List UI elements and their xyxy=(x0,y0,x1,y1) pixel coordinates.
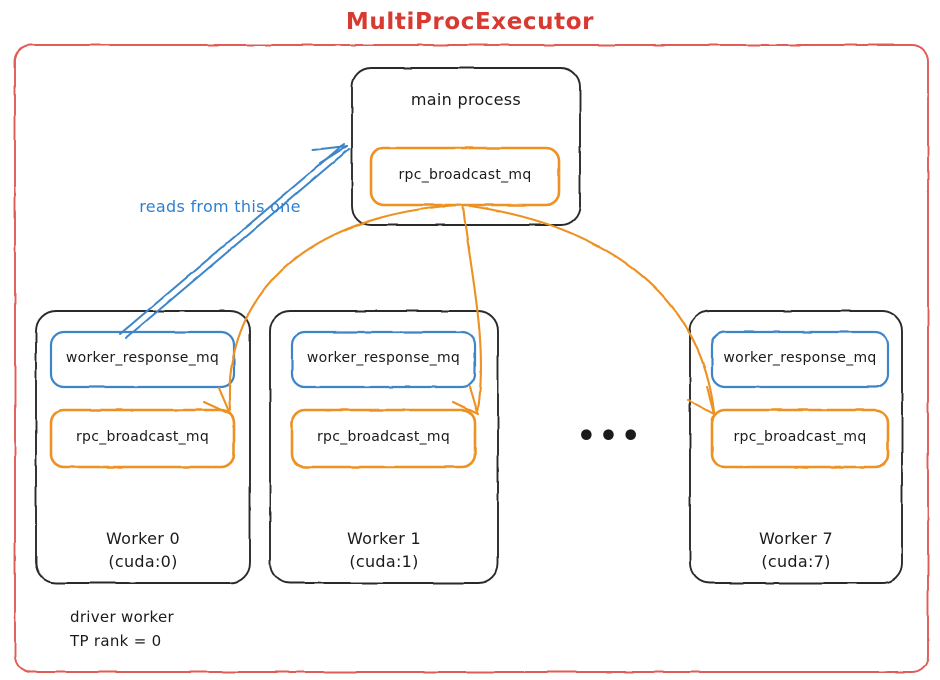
worker-7-name: Worker 7 xyxy=(690,529,902,549)
reads-from-annotation: reads from this one xyxy=(105,197,335,217)
worker-0-device: (cuda:0) xyxy=(36,552,250,572)
worker-1-name: Worker 1 xyxy=(270,529,498,549)
worker-0-response-queue-label: worker_response_mq xyxy=(51,350,234,368)
worker-7-device: (cuda:7) xyxy=(690,552,902,572)
broadcast-arrow-worker-7 xyxy=(470,206,714,412)
main-process-broadcast-queue-label: rpc_broadcast_mq xyxy=(371,167,559,185)
driver-worker-note-line1: driver worker xyxy=(70,608,370,627)
worker-1-response-queue-label: worker_response_mq xyxy=(292,350,475,368)
worker-1-broadcast-queue-label: rpc_broadcast_mq xyxy=(292,429,475,447)
worker-7-response-queue-label: worker_response_mq xyxy=(712,350,888,368)
diagram-canvas: MultiProcExecutor main process rpc_broad… xyxy=(0,0,940,680)
worker-7-broadcast-queue-label: rpc_broadcast_mq xyxy=(712,429,888,447)
worker-0-name: Worker 0 xyxy=(36,529,250,549)
reads-from-arrow-line-a xyxy=(120,144,344,334)
reads-from-arrow xyxy=(120,144,349,338)
workers-ellipsis: ••• xyxy=(530,418,690,456)
worker-1-device: (cuda:1) xyxy=(270,552,498,572)
worker-0-broadcast-queue-label: rpc_broadcast_mq xyxy=(51,429,234,447)
driver-worker-note-line2: TP rank = 0 xyxy=(70,632,370,651)
main-process-title: main process xyxy=(352,90,580,110)
page-title: MultiProcExecutor xyxy=(0,8,940,37)
